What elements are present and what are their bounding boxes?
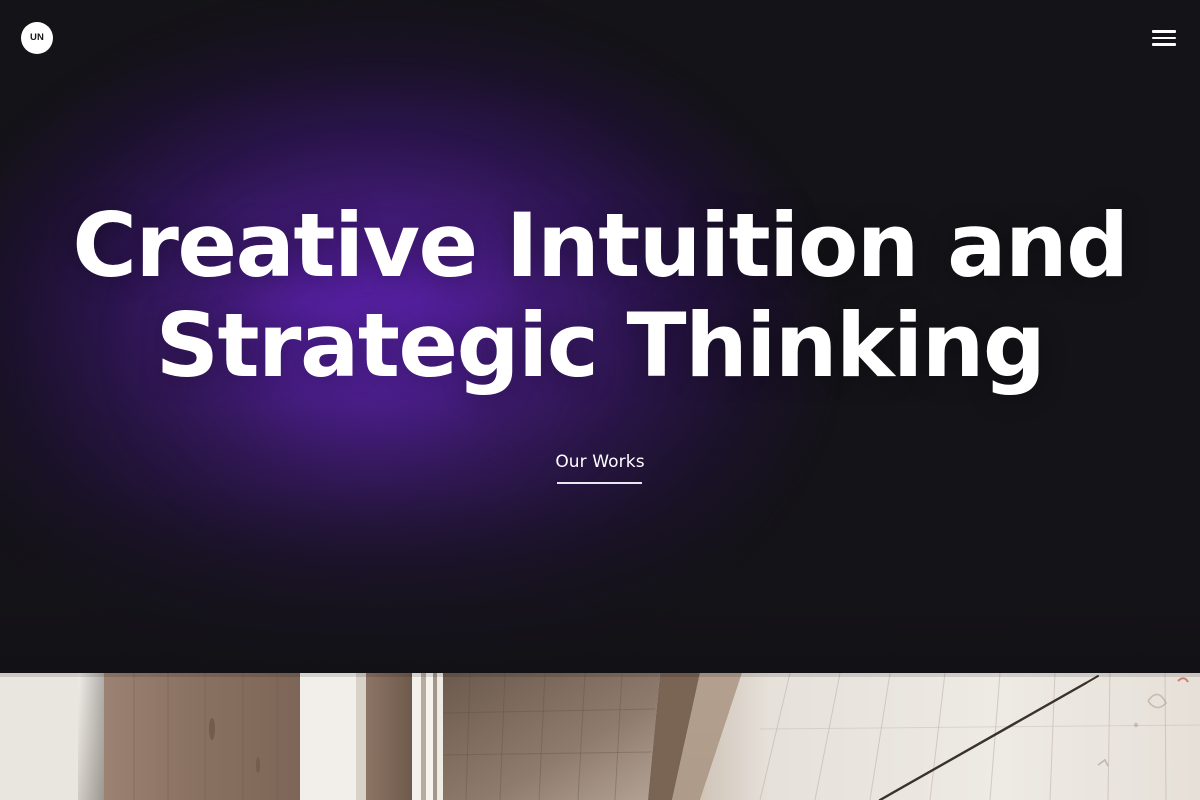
hero-content: Creative Intuition and Strategic Thinkin… [0, 0, 1200, 673]
hero-cta: Our Works [555, 454, 644, 484]
hero-headline-line-2: Strategic Thinking [72, 296, 1127, 396]
menu-bar-middle [1152, 37, 1176, 40]
menu-bar-bottom [1152, 43, 1176, 46]
hamburger-menu-icon[interactable] [1152, 25, 1180, 51]
hero-photo-band [0, 673, 1200, 800]
brand-logo-text: UN [30, 33, 44, 43]
menu-bar-top [1152, 30, 1176, 33]
hero-headline: Creative Intuition and Strategic Thinkin… [72, 196, 1127, 396]
hero-headline-line-1: Creative Intuition and [72, 196, 1127, 296]
corridor-photo [0, 673, 1200, 800]
our-works-underline [557, 482, 642, 484]
our-works-link[interactable]: Our Works [555, 454, 644, 471]
brand-logo[interactable]: UN [21, 22, 53, 54]
page-root: UN Creative Intuition and Strategic Thin… [0, 0, 1200, 800]
top-navigation-bar: UN [0, 0, 1200, 78]
